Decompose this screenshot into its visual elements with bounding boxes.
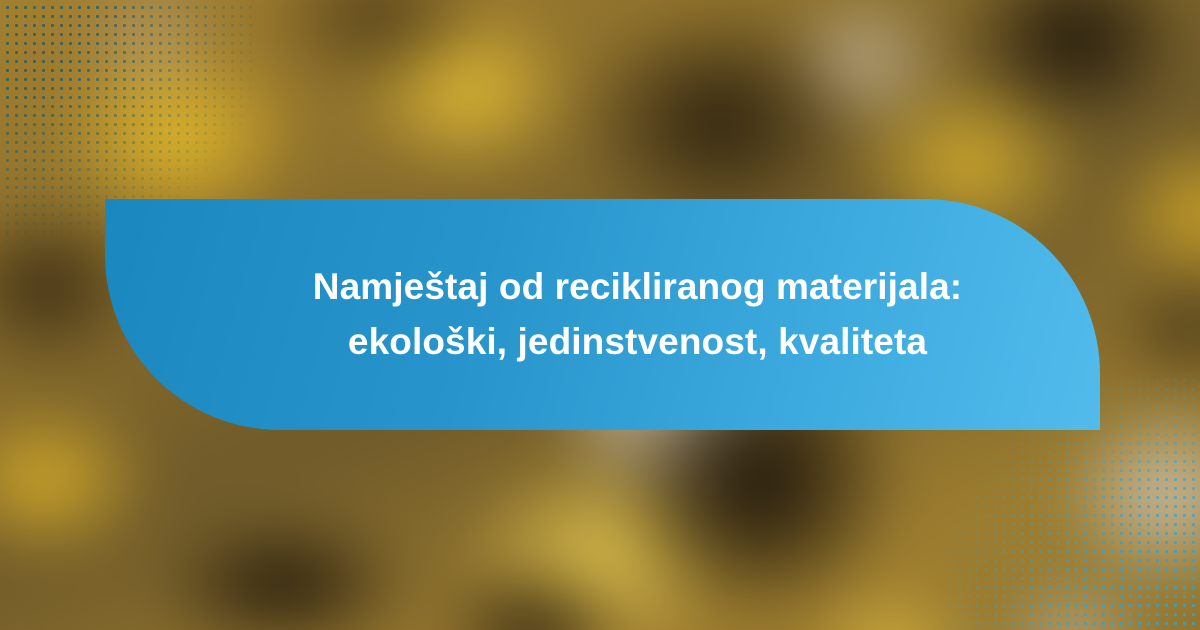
page-title: Namještaj od recikliranog materijala:eko… [313, 260, 962, 370]
page-title-line-2: ekološki, jedinstvenost, kvaliteta [348, 321, 927, 362]
social-share-card: Namještaj od recikliranog materijala:eko… [0, 0, 1200, 630]
title-banner: Namještaj od recikliranog materijala:eko… [105, 199, 1100, 430]
page-title-line-1: Namještaj od recikliranog materijala: [313, 266, 962, 307]
